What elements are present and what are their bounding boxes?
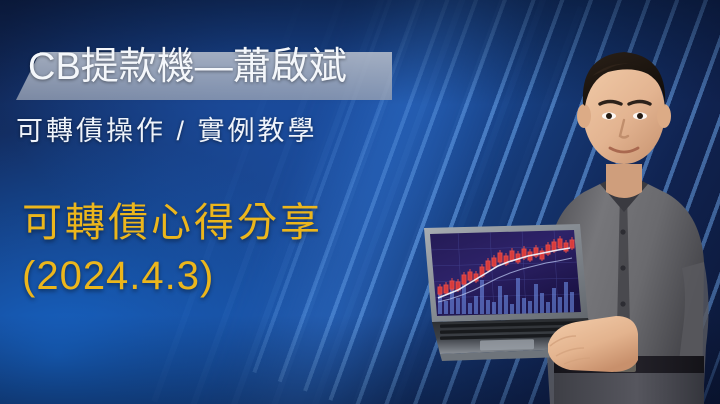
youtube-thumbnail: CB提款機—蕭啟斌 可轉債操作 / 實例教學 可轉債心得分享 (2024.4.3… [0,0,720,404]
headline-line-2: (2024.4.3) [22,256,214,296]
presenter-head [577,52,671,164]
headline-line-1: 可轉債心得分享 [22,203,323,243]
presenter-hand [520,300,640,380]
page-subtitle: 可轉債操作 / 實例教學 [16,118,318,145]
page-title: CB提款機—蕭啟斌 [28,48,347,86]
